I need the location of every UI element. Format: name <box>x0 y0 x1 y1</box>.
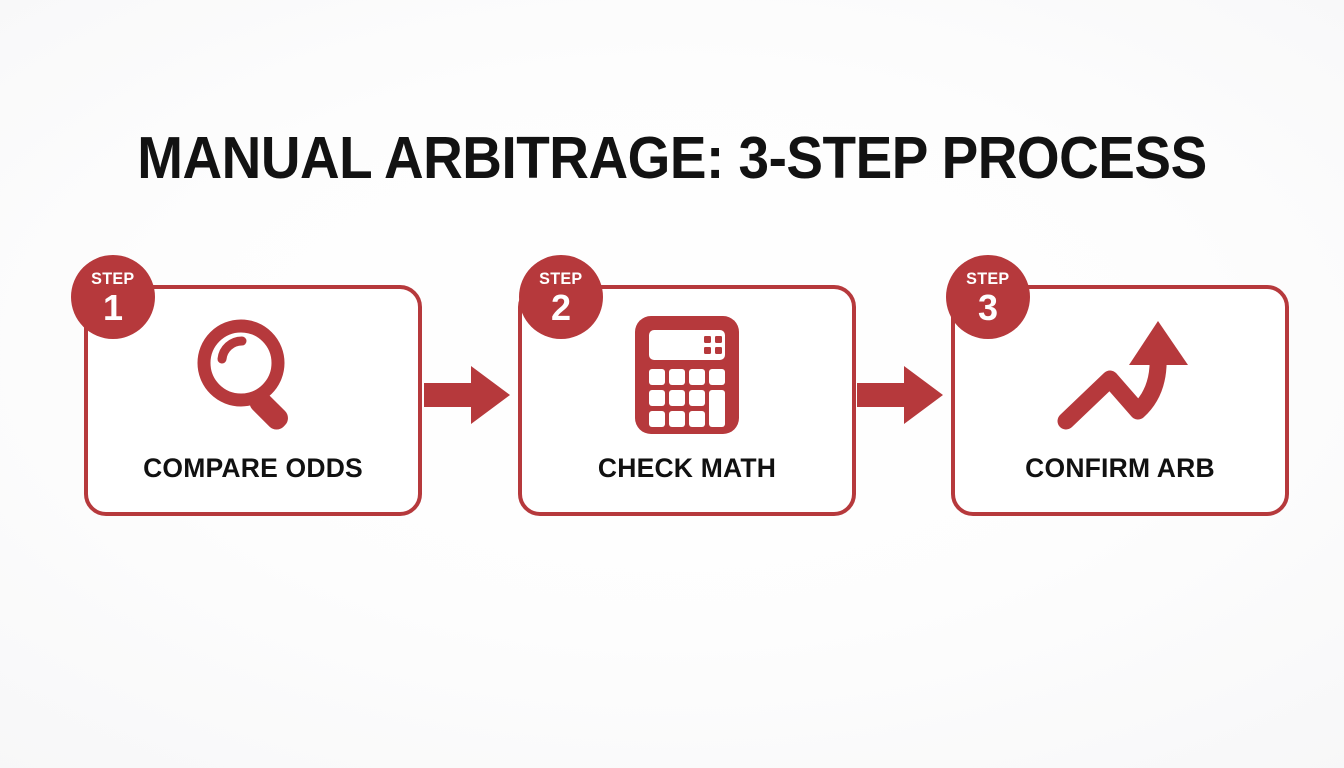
step-badge-2-word: STEP <box>539 270 582 287</box>
step-badge-3-word: STEP <box>966 270 1009 287</box>
step-badge-2-number: 2 <box>551 290 571 326</box>
step-badge-3-number: 3 <box>978 290 998 326</box>
connector-arrow-2 <box>857 366 943 424</box>
calculator-icon <box>632 313 742 437</box>
step-2-label: CHECK MATH <box>522 453 852 484</box>
connector-arrow-1 <box>424 366 510 424</box>
infographic-canvas: MANUAL ARBITRAGE: 3-STEP PROCESS COMPARE… <box>0 0 1344 768</box>
step-badge-1-word: STEP <box>91 270 134 287</box>
right-arrow-icon <box>424 366 510 424</box>
step-badge-1: STEP 1 <box>71 255 155 339</box>
upward-trend-arrow-icon <box>1052 313 1188 437</box>
step-1-label: COMPARE ODDS <box>88 453 418 484</box>
page-title: MANUAL ARBITRAGE: 3-STEP PROCESS <box>47 126 1297 191</box>
step-badge-1-number: 1 <box>103 290 123 326</box>
magnifying-glass-icon <box>189 313 317 437</box>
step-3-label: CONFIRM ARB <box>955 453 1285 484</box>
step-badge-3: STEP 3 <box>946 255 1030 339</box>
right-arrow-icon <box>857 366 943 424</box>
step-badge-2: STEP 2 <box>519 255 603 339</box>
